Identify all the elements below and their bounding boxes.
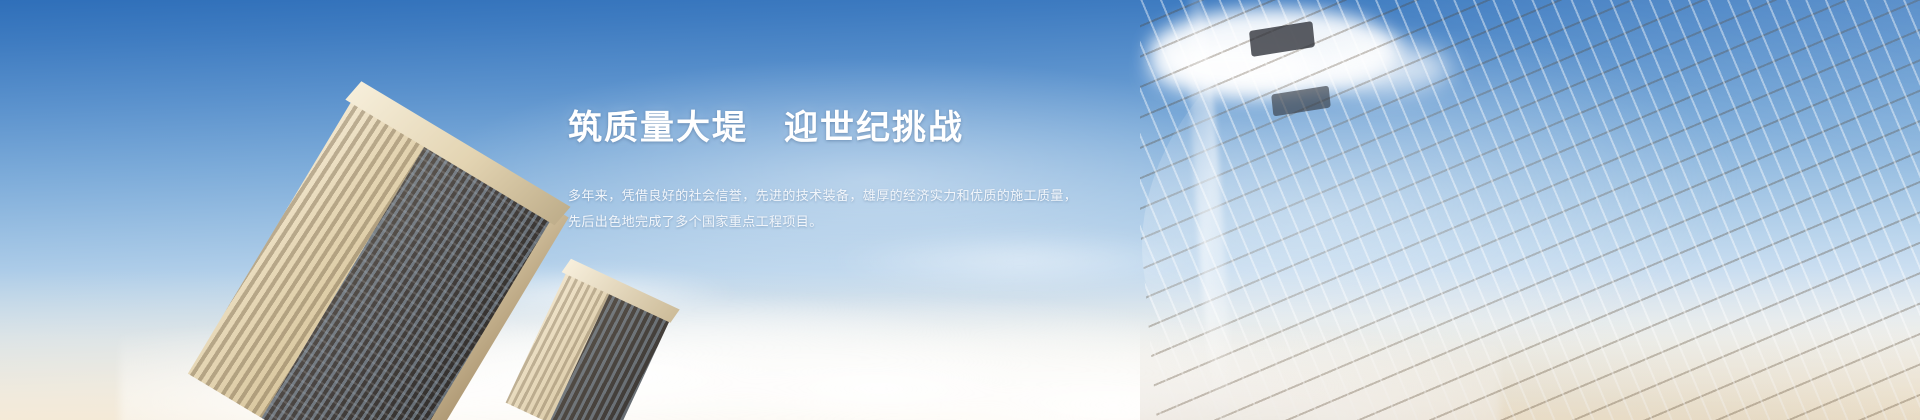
banner-copy: 筑质量大堤 迎世纪挑战 多年来，凭借良好的社会信誉，先进的技术装备，雄厚的经济实… <box>568 108 1088 235</box>
hero-banner: 筑质量大堤 迎世纪挑战 多年来，凭借良好的社会信誉，先进的技术装备，雄厚的经济实… <box>0 0 1920 420</box>
banner-headline: 筑质量大堤 迎世纪挑战 <box>568 108 1088 149</box>
banner-subtitle-line-1: 多年来，凭借良好的社会信誉，先进的技术装备，雄厚的经济实力和优质的施工质量， <box>568 183 1088 209</box>
banner-subtitle-line-2: 先后出色地完成了多个国家重点工程项目。 <box>568 209 1088 235</box>
right-glass-building <box>1140 0 1920 420</box>
banner-subtitle: 多年来，凭借良好的社会信誉，先进的技术装备，雄厚的经济实力和优质的施工质量， 先… <box>568 183 1088 235</box>
right-building-shadow <box>1140 320 1920 420</box>
